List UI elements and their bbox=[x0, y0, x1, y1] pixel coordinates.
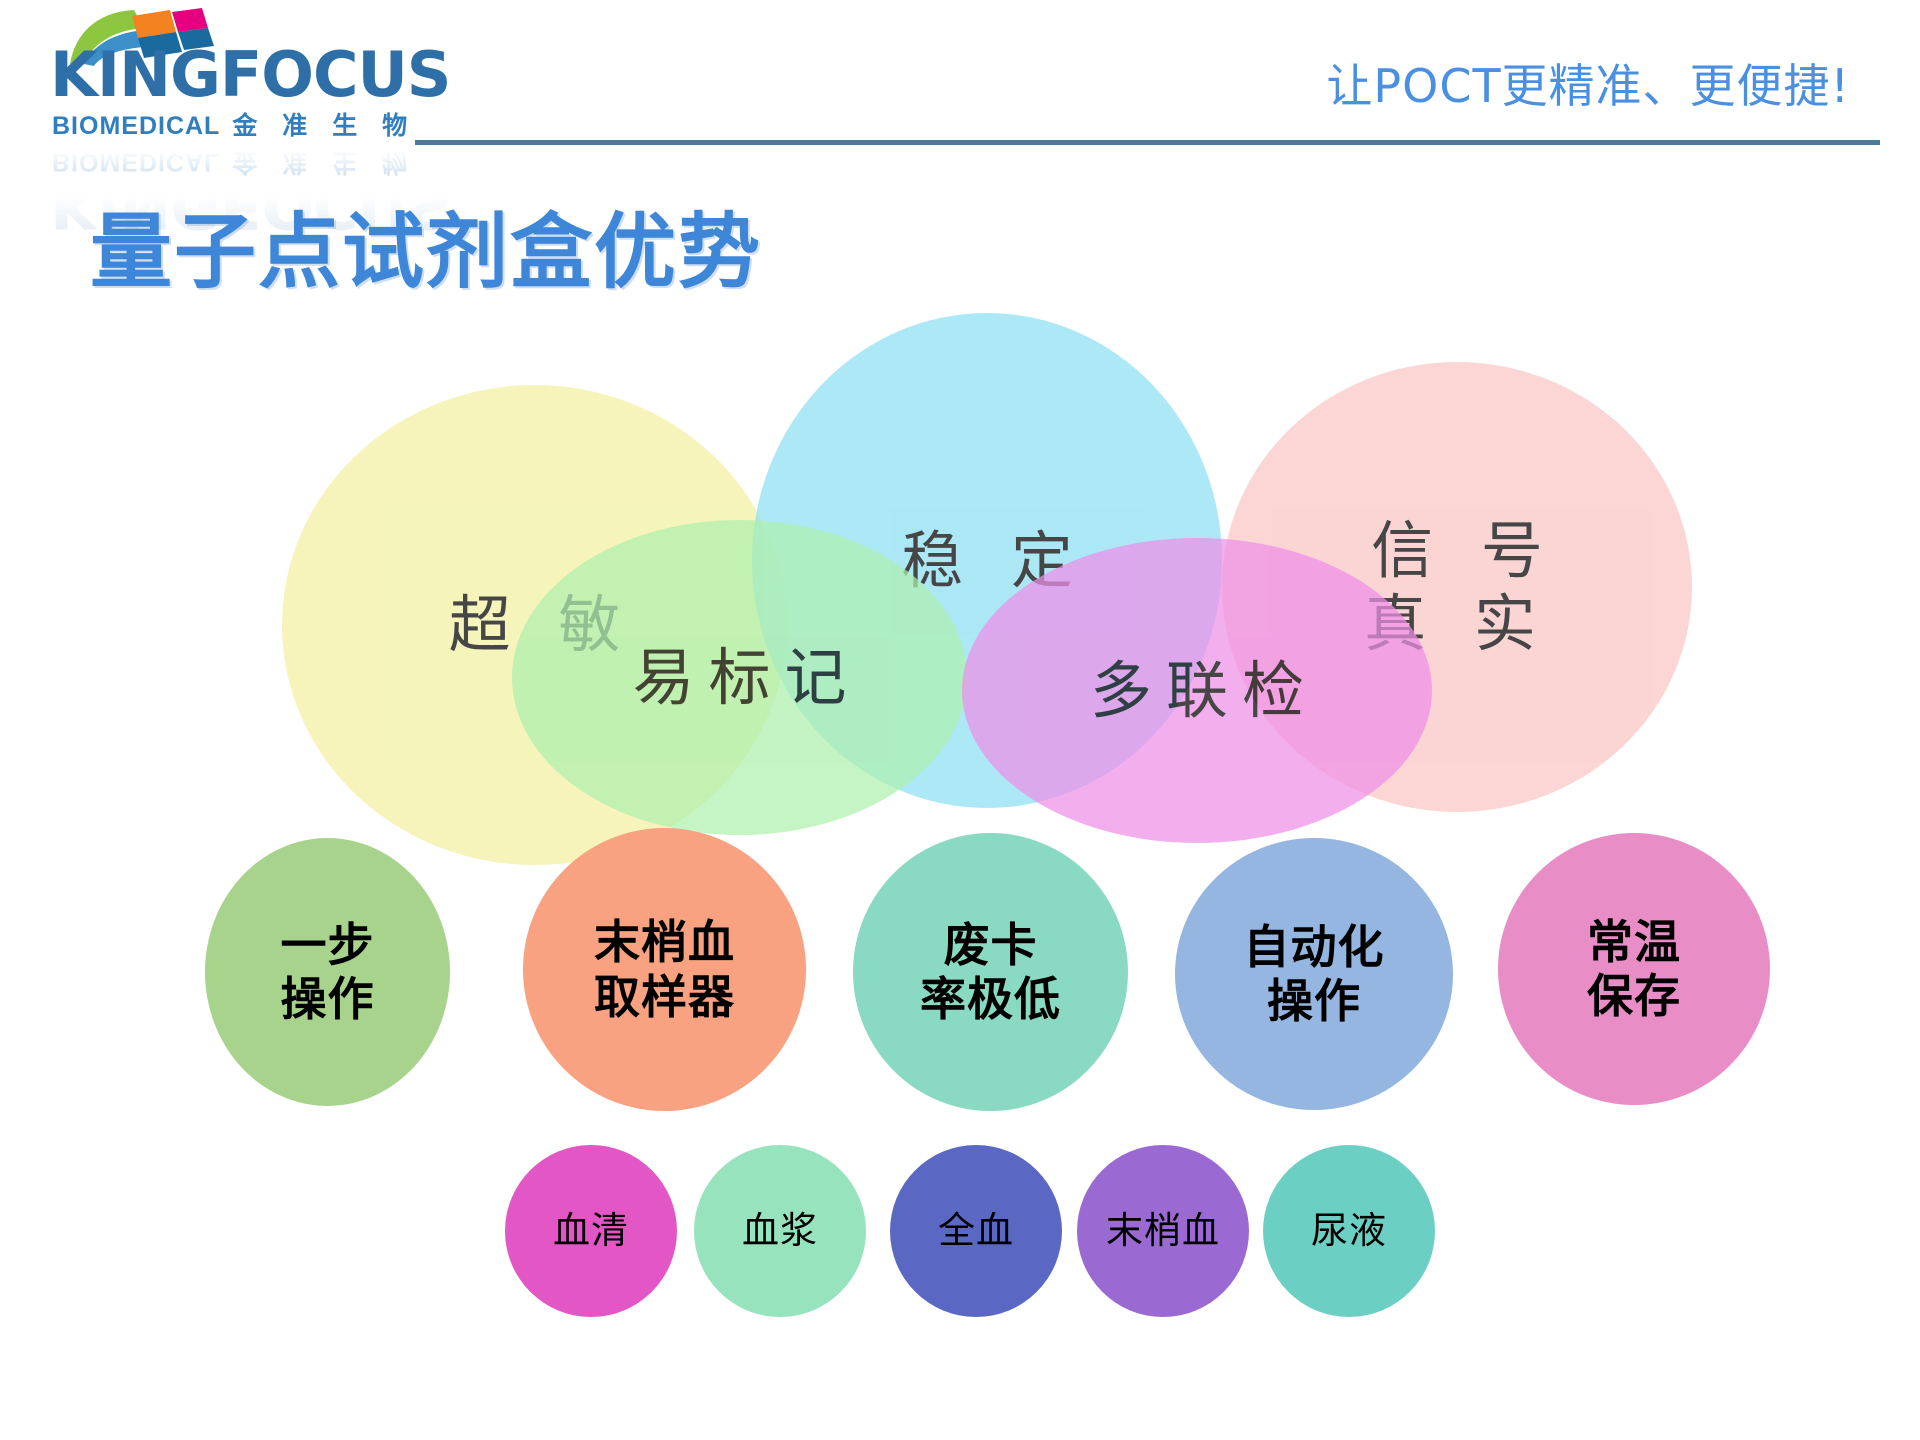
bubble-urine: 尿液 bbox=[1263, 1145, 1435, 1317]
bubble-peripheral-blood-label: 末梢血 bbox=[1106, 1209, 1220, 1253]
bubble-automation-label: 自动化 操作 bbox=[1244, 920, 1385, 1029]
bubble-peripheral-blood: 末梢血 bbox=[1077, 1145, 1249, 1317]
bubble-multiplex: 多联检 bbox=[962, 538, 1432, 843]
bubble-multiplex-label: 多联检 bbox=[1076, 654, 1318, 727]
bubble-whole-blood: 全血 bbox=[890, 1145, 1062, 1317]
bubble-one-step: 一步 操作 bbox=[205, 838, 450, 1106]
bubble-room-temp-label: 常温 保存 bbox=[1587, 915, 1681, 1024]
bubble-urine-label: 尿液 bbox=[1311, 1209, 1387, 1253]
bubble-serum: 血清 bbox=[505, 1145, 677, 1317]
bubble-one-step-label: 一步 操作 bbox=[281, 918, 375, 1027]
bubble-plasma-label: 血浆 bbox=[742, 1209, 818, 1253]
bubble-serum-label: 血清 bbox=[553, 1209, 629, 1253]
bubble-easy-label: 易标记 bbox=[512, 520, 967, 835]
bubble-automation: 自动化 操作 bbox=[1175, 838, 1453, 1110]
bubble-low-waste-label: 废卡 率极低 bbox=[920, 918, 1061, 1027]
bubble-easy-label-label: 易标记 bbox=[618, 641, 860, 714]
bubble-whole-blood-label: 全血 bbox=[938, 1209, 1014, 1253]
bubble-low-waste: 废卡 率极低 bbox=[853, 833, 1128, 1111]
bubble-plasma: 血浆 bbox=[694, 1145, 866, 1317]
bubble-fingertip-sampler-label: 末梢血 取样器 bbox=[594, 915, 735, 1024]
bubble-room-temp: 常温 保存 bbox=[1498, 833, 1770, 1105]
bubble-fingertip-sampler: 末梢血 取样器 bbox=[523, 828, 806, 1111]
advantages-diagram: 超 敏 稳 定 信 号 真 实 易标记 多联检 一步 操作 末梢血 取样器 废卡… bbox=[0, 0, 1920, 1440]
